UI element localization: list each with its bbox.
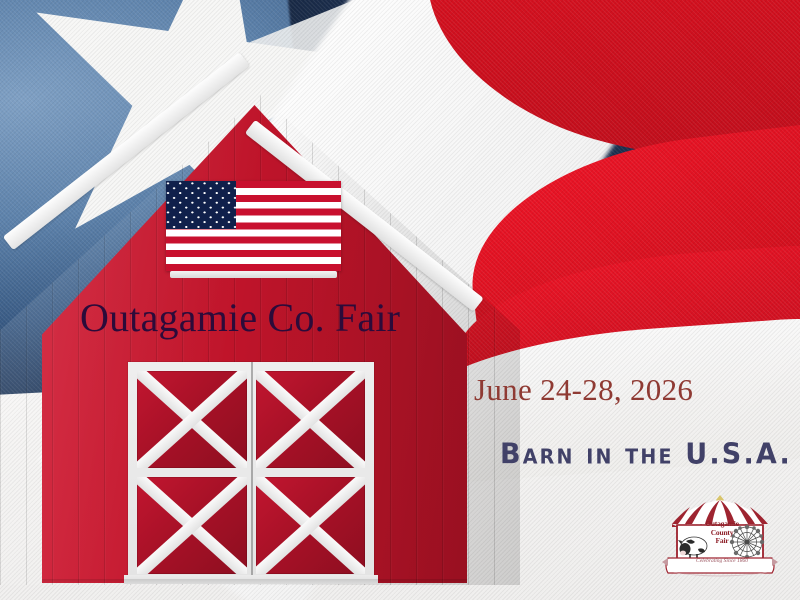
logo-wordmark-line3: Fair [670,537,774,546]
barn-door-panel [256,371,366,468]
fair-poster: Outagamie Co. Fair June 24-28, 2026 Barn… [0,0,800,600]
red-barn-illustration [0,95,520,585]
american-flag-icon [166,181,341,271]
barn-door-panel [256,477,366,574]
flag-ledge-trim [170,271,337,278]
logo-banner-text: Celebrating Since 1860 [664,558,780,564]
barn-door-panel [137,371,247,468]
barn-ground-shadow [42,579,467,584]
fair-tagline: Barn in the U.S.A. [500,440,792,469]
page-title: Outagamie Co. Fair [80,298,400,338]
flag-canton [166,181,236,229]
outagamie-county-fair-logo[interactable]: Outagamie County Fair Celebrating Since … [650,492,790,584]
barn-doors [128,362,374,583]
fair-dates: June 24-28, 2026 [474,374,693,405]
barn-door-panel [137,477,247,574]
barn-door-center-seam [251,362,253,583]
flag-stars [166,181,236,229]
logo-wordmark: Outagamie County Fair [670,520,774,546]
